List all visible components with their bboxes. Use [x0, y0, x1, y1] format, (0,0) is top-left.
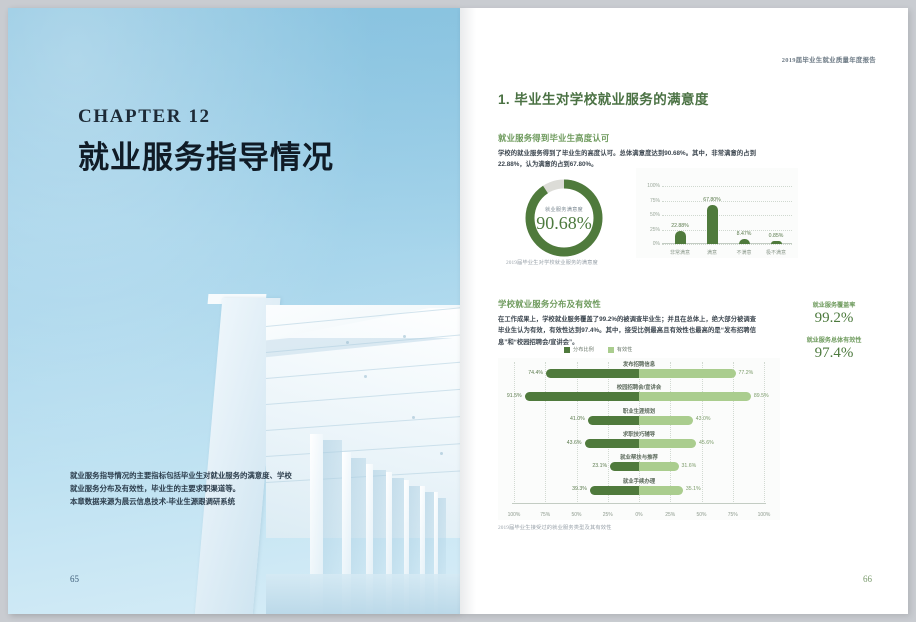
bar-value-label: 22.88%: [663, 223, 697, 229]
chart-row: 校园招聘会/宣讲会91.5%89.5%: [498, 383, 780, 406]
row-category-label: 职业生涯规划: [498, 407, 780, 415]
chapter-kicker: CHAPTER 12: [78, 106, 334, 128]
bar-distribution[interactable]: [590, 486, 639, 495]
bar-value-label-right: 35.1%: [686, 486, 716, 492]
bar-value-label: 67.80%: [695, 197, 729, 203]
bar-distribution[interactable]: [525, 392, 639, 401]
x-axis-tick-label: 不满意: [727, 249, 761, 256]
bar-value-label-right: 45.6%: [699, 440, 729, 446]
legend-item[interactable]: 分布比例: [564, 346, 594, 353]
gridline: [662, 215, 792, 216]
subsection-title-satisfaction: 就业服务得到毕业生高度认可: [498, 132, 609, 144]
y-axis-tick-label: 25%: [638, 227, 660, 233]
right-page: 2019届毕业生就业质量年度报告 1. 毕业生对学校就业服务的满意度 就业服务得…: [460, 8, 908, 614]
chart-row: 发布招聘信息74.4%77.2%: [498, 360, 780, 383]
stat-coverage-value: 99.2%: [786, 310, 882, 327]
chart-row: 职业生涯规划41.0%43.0%: [498, 407, 780, 430]
service-types-chart: 分布比例有效性100%75%50%25%0%25%50%75%100%发布招聘信…: [498, 358, 780, 520]
bar-value-label-left: 23.1%: [577, 463, 607, 469]
chart-row: 求职技巧辅导43.6%45.6%: [498, 430, 780, 453]
bar-value-label-left: 91.5%: [492, 393, 522, 399]
bar-effectiveness[interactable]: [639, 462, 679, 471]
figure-caption-satisfaction: 2019届毕业生对学校就业服务的满意度: [506, 258, 598, 266]
stat-effectiveness: 就业服务总体有效性 97.4%: [786, 335, 882, 362]
figure-caption-services: 2019届毕业生接受过的就业服务类型及其有效性: [498, 523, 612, 531]
y-axis-tick-label: 75%: [638, 198, 660, 204]
bar-value-label-right: 43.0%: [696, 416, 726, 422]
chapter-title: 就业服务指导情况: [78, 132, 334, 177]
x-axis-tick-label: 0%: [626, 512, 652, 518]
row-category-label: 就业帮扶与推荐: [498, 453, 780, 461]
row-category-label: 校园招聘会/宣讲会: [498, 383, 780, 391]
y-axis-tick-label: 50%: [638, 212, 660, 218]
page-number-left: 65: [70, 574, 79, 584]
bar-distribution[interactable]: [610, 462, 639, 471]
donut-center-label: 就业服务满意度: [500, 206, 628, 213]
x-axis-tick-label: 非常满意: [663, 249, 697, 256]
chapter-heading: CHAPTER 12 就业服务指导情况: [78, 106, 334, 177]
chapter-note-line-3: 本章数据来源为晨云信息技术-毕业生源跟调研系统: [70, 495, 310, 508]
chart-row: 就业帮扶与推荐23.1%31.6%: [498, 453, 780, 476]
row-category-label: 求职技巧辅导: [498, 430, 780, 438]
bar-effectiveness[interactable]: [639, 486, 683, 495]
bar-distribution[interactable]: [588, 416, 639, 425]
legend-item[interactable]: 有效性: [608, 346, 633, 353]
running-head: 2019届毕业生就业质量年度报告: [782, 55, 876, 64]
x-axis-tick-label: 25%: [595, 512, 621, 518]
bar-value-label-left: 39.3%: [557, 486, 587, 492]
soffit-light: [440, 452, 443, 455]
chapter-note: 就业服务指导情况的主要指标包括毕业生对就业服务的满意度、学校 就业服务分布及有效…: [70, 469, 310, 509]
stat-effectiveness-value: 97.4%: [786, 345, 882, 362]
left-page: CHAPTER 12 就业服务指导情况 就业服务指导情况的主要指标包括毕业生对就…: [8, 8, 460, 614]
x-axis-tick-label: 50%: [564, 512, 590, 518]
stat-coverage: 就业服务覆盖率 99.2%: [786, 300, 882, 327]
bar-value-label-left: 43.6%: [552, 440, 582, 446]
x-axis-tick-label: 100%: [751, 512, 777, 518]
x-axis: [512, 503, 766, 504]
bar-value-label-right: 77.2%: [739, 370, 769, 376]
bar-value-label-left: 41.0%: [555, 416, 585, 422]
satisfaction-breakdown-chart: 0%25%50%75%100%22.88%非常满意67.80%满意8.47%不满…: [636, 168, 798, 258]
page-title: 1. 毕业生对学校就业服务的满意度: [498, 88, 709, 108]
bar-value-label-right: 89.5%: [754, 393, 784, 399]
chapter-note-line-2: 就业服务分布及有效性，毕业生的主要求职渠道等。: [70, 482, 310, 495]
building-floor: [266, 574, 460, 614]
gridline: [662, 244, 792, 245]
bar[interactable]: [707, 205, 718, 244]
row-category-label: 发布招聘信息: [498, 360, 780, 368]
satisfaction-donut-chart: 就业服务满意度 90.68%: [500, 174, 628, 262]
y-axis-tick-label: 100%: [638, 183, 660, 189]
bar-effectiveness[interactable]: [639, 369, 736, 378]
bar-distribution[interactable]: [585, 439, 640, 448]
legend-swatch: [564, 347, 570, 353]
bar-effectiveness[interactable]: [639, 439, 696, 448]
subsection-title-services: 学校就业服务分布及有效性: [498, 298, 601, 310]
soffit-light: [412, 416, 415, 419]
page-number-right: 66: [863, 574, 872, 584]
chart-row: 就业手续办理39.3%35.1%: [498, 477, 780, 500]
soffit-light: [403, 335, 406, 338]
bar[interactable]: [771, 241, 782, 244]
bar-value-label-right: 31.6%: [682, 463, 712, 469]
chart-legend: 分布比例有效性: [564, 346, 632, 353]
soffit-light: [364, 375, 367, 378]
soffit-light: [346, 341, 349, 344]
x-axis-tick-label: 25%: [657, 512, 683, 518]
bar-effectiveness[interactable]: [639, 392, 751, 401]
row-category-label: 就业手续办理: [498, 477, 780, 485]
book-spread: CHAPTER 12 就业服务指导情况 就业服务指导情况的主要指标包括毕业生对就…: [0, 0, 916, 622]
stat-effectiveness-label: 就业服务总体有效性: [786, 335, 882, 344]
x-axis-tick-label: 75%: [532, 512, 558, 518]
legend-label: 分布比例: [573, 346, 594, 353]
bar-value-label-left: 74.4%: [513, 370, 543, 376]
legend-swatch: [608, 347, 614, 353]
body-text-services: 在工作成果上，学校就业服务覆盖了99.2%的被调查毕业生；并且在总体上，绝大部分…: [498, 314, 756, 348]
bar[interactable]: [739, 239, 750, 244]
legend-label: 有效性: [617, 346, 633, 353]
bar-value-label: 0.85%: [759, 233, 793, 239]
donut-center-value: 90.68%: [500, 213, 628, 234]
bar-value-label: 8.47%: [727, 231, 761, 237]
gridline: [662, 186, 792, 187]
x-axis-tick-label: 满意: [695, 249, 729, 256]
bar-distribution[interactable]: [546, 369, 639, 378]
page-gutter-shadow: [460, 8, 476, 614]
x-axis-tick-label: 75%: [720, 512, 746, 518]
x-axis-tick-label: 50%: [689, 512, 715, 518]
y-axis-tick-label: 0%: [638, 241, 660, 247]
bar[interactable]: [675, 231, 686, 244]
x-axis-tick-label: 极不满意: [759, 249, 793, 256]
x-axis-tick-label: 100%: [501, 512, 527, 518]
chapter-note-line-1: 就业服务指导情况的主要指标包括毕业生对就业服务的满意度、学校: [70, 469, 310, 482]
bar-effectiveness[interactable]: [639, 416, 693, 425]
stat-coverage-label: 就业服务覆盖率: [786, 300, 882, 309]
